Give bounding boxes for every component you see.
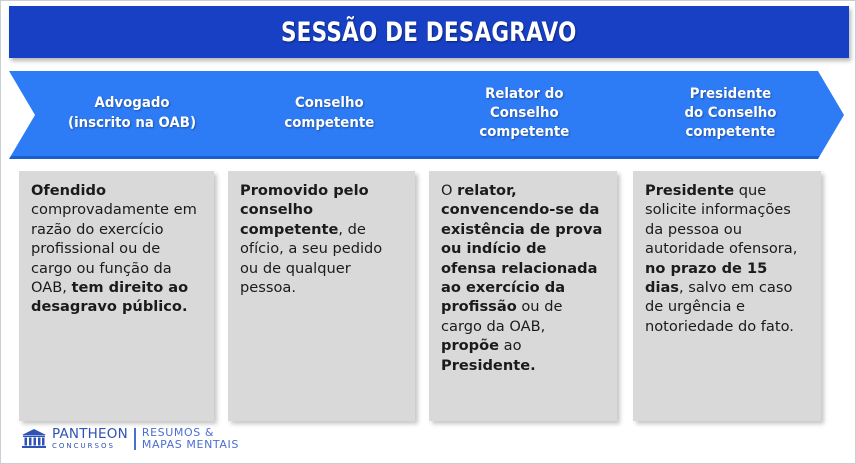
chevron-label: Presidente do Conselho competente: [666, 85, 782, 143]
chevron-label: Conselho competente: [266, 94, 380, 133]
flow-step-panel-relator-do-conselho: O relator, convencendo-se da existência …: [429, 171, 617, 421]
chevron-label: Advogado (inscrito na OAB): [49, 94, 201, 133]
flow-step-chevron-advogado[interactable]: Advogado (inscrito na OAB): [9, 71, 242, 159]
flow-step-panel-advogado: Ofendido comprovadamente em razão do exe…: [19, 171, 214, 421]
tagline-line-2: MAPAS MENTAIS: [142, 439, 239, 451]
page-title: SESSÃO DE DESAGRAVO: [281, 17, 577, 48]
brand-name: PANTHEON: [52, 428, 128, 442]
chevron-label: Relator do Conselho competente: [461, 85, 575, 143]
flow-step-panel-conselho-competente: Promovido pelo conselho competente, de o…: [228, 171, 415, 421]
flow-step-chevron-relator-do-conselho[interactable]: Relator do Conselho competente: [405, 71, 631, 159]
brand-subtitle: CONCURSOS: [52, 443, 128, 450]
panel-text: O relator, convencendo-se da existência …: [441, 181, 605, 375]
flow-step-chevron-presidente-do-conselho[interactable]: Presidente do Conselho competente: [604, 71, 844, 159]
panel-text: Promovido pelo conselho competente, de o…: [240, 181, 403, 297]
panel-text: Presidente que solicite informações da p…: [645, 181, 809, 336]
panel-text: Ofendido comprovadamente em razão do exe…: [31, 181, 202, 317]
brand-tagline: RESUMOS & MAPAS MENTAIS: [142, 427, 239, 450]
header-banner: SESSÃO DE DESAGRAVO: [9, 6, 849, 58]
flow-chevron-row: Advogado (inscrito na OAB) Conselho comp…: [9, 71, 849, 161]
logo-divider: [134, 428, 136, 450]
infographic-page: SESSÃO DE DESAGRAVO Advogado (inscrito n…: [0, 0, 856, 464]
flow-step-panel-presidente-do-conselho: Presidente que solicite informações da p…: [633, 171, 821, 421]
pantheon-temple-icon: [21, 428, 47, 450]
flow-step-chevron-conselho-competente[interactable]: Conselho competente: [214, 71, 432, 159]
brand-logo: PANTHEON CONCURSOS RESUMOS & MAPAS MENTA…: [21, 425, 239, 453]
brand-wordmark: PANTHEON CONCURSOS: [52, 428, 128, 450]
